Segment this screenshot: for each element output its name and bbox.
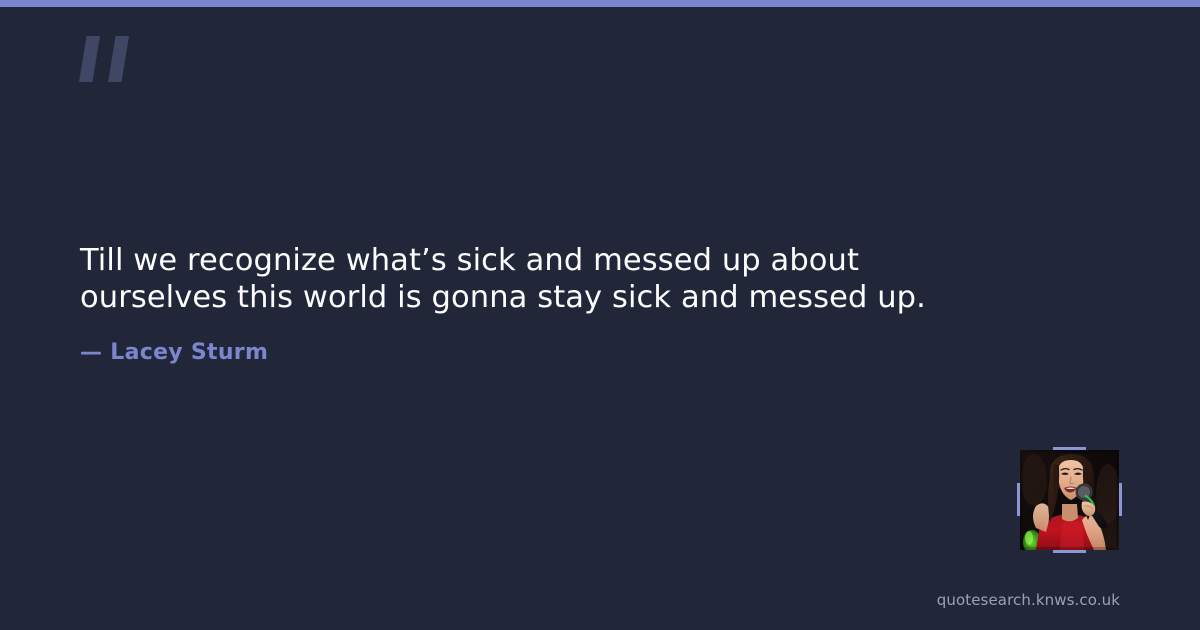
resize-handle-top[interactable]	[1053, 447, 1086, 450]
author-thumbnail-container[interactable]	[1020, 450, 1119, 550]
resize-handle-bottom[interactable]	[1053, 550, 1086, 553]
quote-mark-wedge-right	[108, 36, 129, 82]
source-url-label: quotesearch.knws.co.uk	[937, 590, 1120, 610]
resize-handle-right[interactable]	[1119, 483, 1122, 516]
quote-attribution: — Lacey Sturm	[80, 340, 268, 366]
quote-text: Till we recognize what’s sick and messed…	[80, 243, 1010, 316]
author-photo[interactable]	[1020, 450, 1119, 550]
opening-quote-mark-icon	[79, 36, 141, 82]
quote-mark-wedge-left	[79, 36, 100, 82]
top-accent-bar	[0, 0, 1200, 7]
quote-card: Till we recognize what’s sick and messed…	[0, 0, 1200, 630]
resize-handle-left[interactable]	[1017, 483, 1020, 516]
